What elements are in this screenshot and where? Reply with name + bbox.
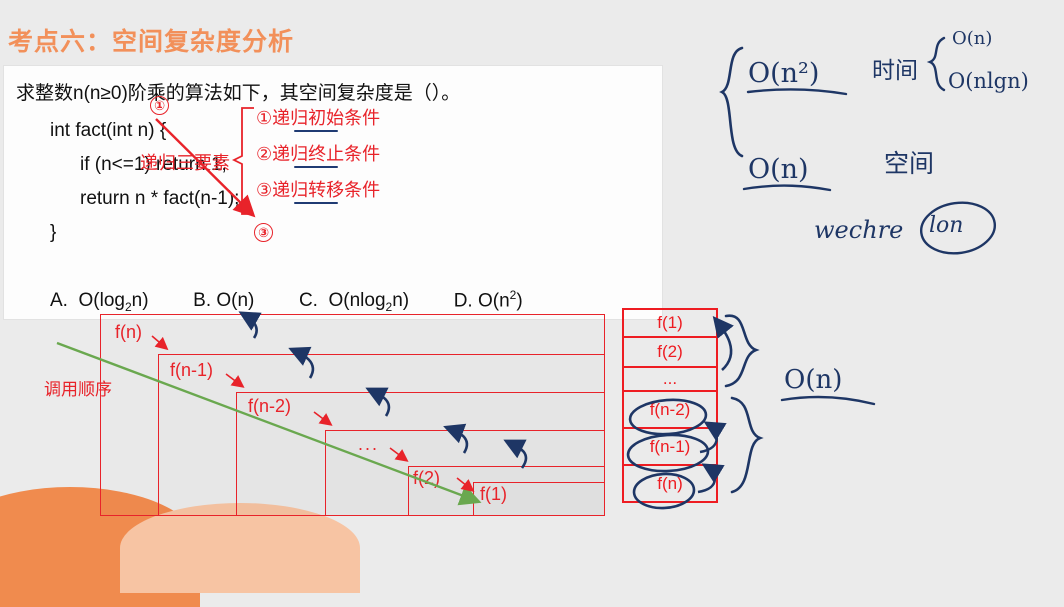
recursion-item-text-1: 递归初始条件	[272, 108, 380, 128]
stack-row: f(2)	[622, 338, 718, 368]
handwriting-circled-text: lon	[929, 213, 963, 238]
handwriting-space-label: 空间	[884, 149, 934, 178]
diagram-arrows-icon	[0, 300, 1064, 519]
stack-row: f(n-2)	[622, 392, 718, 429]
question-panel: 求整数n(n≥0)阶乘的算法如下，其空间复杂度是（）。 int fact(int…	[4, 66, 662, 319]
page-title: 考点六：空间复杂度分析	[8, 22, 294, 58]
call-order-label: 调用顺序	[44, 375, 112, 400]
recursion-item: ③递归转移条件	[256, 172, 380, 208]
recursion-item-text-2: 递归终止条件	[272, 144, 380, 164]
recursion-underline-2	[294, 166, 338, 168]
stack-row: ...	[622, 368, 718, 392]
recursion-items: ①递归初始条件 ②递归终止条件 ③递归转移条件	[256, 100, 380, 208]
recursion-underline-3	[294, 202, 338, 204]
handwriting-word: wechre	[814, 216, 903, 244]
handwriting-on2: O(n²)	[748, 58, 819, 89]
recursion-item-num-2: ②	[256, 144, 272, 164]
handwriting-time-item-1: O(n)	[952, 28, 992, 49]
handwriting-circle-icon	[918, 198, 998, 258]
stack-row: f(n)	[622, 466, 718, 503]
recursion-item-num-1: ①	[256, 108, 272, 128]
recursion-item: ②递归终止条件	[256, 136, 380, 172]
recursion-item-text-3: 递归转移条件	[272, 180, 380, 200]
recursion-item: ①递归初始条件	[256, 100, 380, 136]
handwriting-time-item-2: O(nlgn)	[948, 69, 1029, 93]
stack-diagram: f(1) f(2) ... f(n-2) f(n-1) f(n)	[622, 308, 718, 503]
recursion-underline-1	[294, 130, 338, 132]
call-order-diagram: f(n) f(n-1) f(n-2) f(2) f(1) ...	[0, 300, 1064, 519]
recursion-note-group: 递归三要素 ①递归初始条件 ②递归终止条件 ③递归转移条件	[4, 66, 662, 319]
recursion-note-label: 递归三要素	[140, 149, 230, 175]
stack-row: f(n-1)	[622, 429, 718, 466]
recursion-item-num-3: ③	[256, 180, 272, 200]
stack-row: f(1)	[622, 308, 718, 338]
handwriting-time-label: 时间	[872, 58, 918, 84]
handwriting-on: O(n)	[748, 154, 809, 185]
